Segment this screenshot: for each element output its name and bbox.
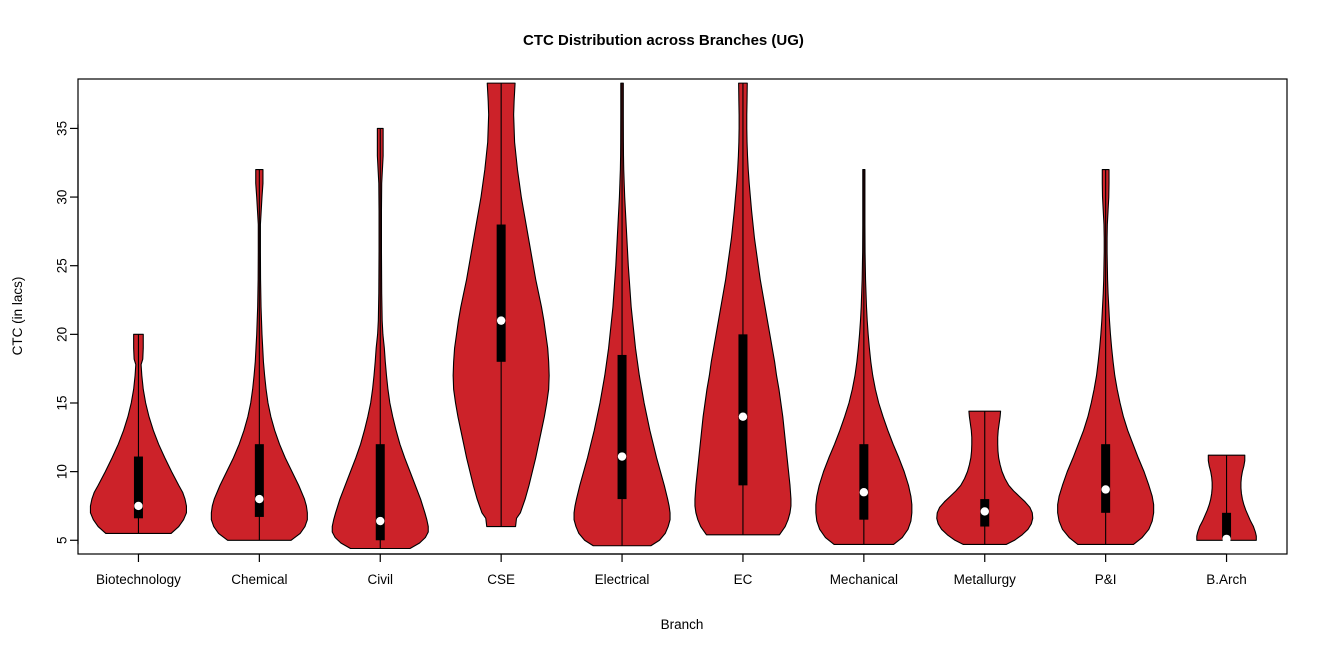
y-tick-label: 10 (55, 464, 70, 479)
median-marker (376, 517, 384, 525)
iqr-box (738, 334, 747, 485)
x-tick-label-b-arch: B.Arch (1206, 572, 1247, 587)
y-tick-label: 25 (55, 258, 70, 273)
x-tick-label-civil: Civil (368, 572, 394, 587)
x-tick-label-ec: EC (734, 572, 753, 587)
x-tick-label-p-i: P&I (1095, 572, 1117, 587)
iqr-box (1101, 444, 1110, 513)
y-tick-label: 15 (55, 395, 70, 410)
y-axis-title: CTC (in lacs) (10, 277, 25, 356)
violin-plot-container: CTC Distribution across Branches (UG) CT… (0, 0, 1327, 653)
x-tick-label-mechanical: Mechanical (830, 572, 898, 587)
iqr-box (618, 355, 627, 499)
iqr-box (859, 444, 868, 520)
x-tick-label-metallurgy: Metallurgy (954, 572, 1017, 587)
iqr-box (497, 225, 506, 362)
x-tick-label-electrical: Electrical (595, 572, 650, 587)
y-tick-label: 5 (55, 537, 70, 545)
median-marker (618, 452, 626, 460)
median-marker (1101, 485, 1109, 493)
page-title: CTC Distribution across Branches (UG) (523, 32, 804, 49)
iqr-box (255, 444, 264, 517)
y-tick-label: 30 (55, 190, 70, 205)
median-marker (497, 316, 505, 324)
median-marker (981, 507, 989, 515)
median-marker (134, 502, 142, 510)
x-tick-label-biotechnology: Biotechnology (96, 572, 181, 587)
violin-plot-canvas: CTC Distribution across Branches (UG) CT… (0, 0, 1327, 653)
y-tick-label: 35 (55, 121, 70, 136)
median-marker (1222, 535, 1230, 543)
x-axis-title: Branch (661, 617, 704, 632)
median-marker (739, 413, 747, 421)
median-marker (860, 488, 868, 496)
plot-background (0, 0, 1327, 653)
x-tick-label-cse: CSE (487, 572, 515, 587)
x-tick-label-chemical: Chemical (231, 572, 287, 587)
iqr-box (376, 444, 385, 540)
median-marker (255, 495, 263, 503)
y-tick-label: 20 (55, 327, 70, 342)
